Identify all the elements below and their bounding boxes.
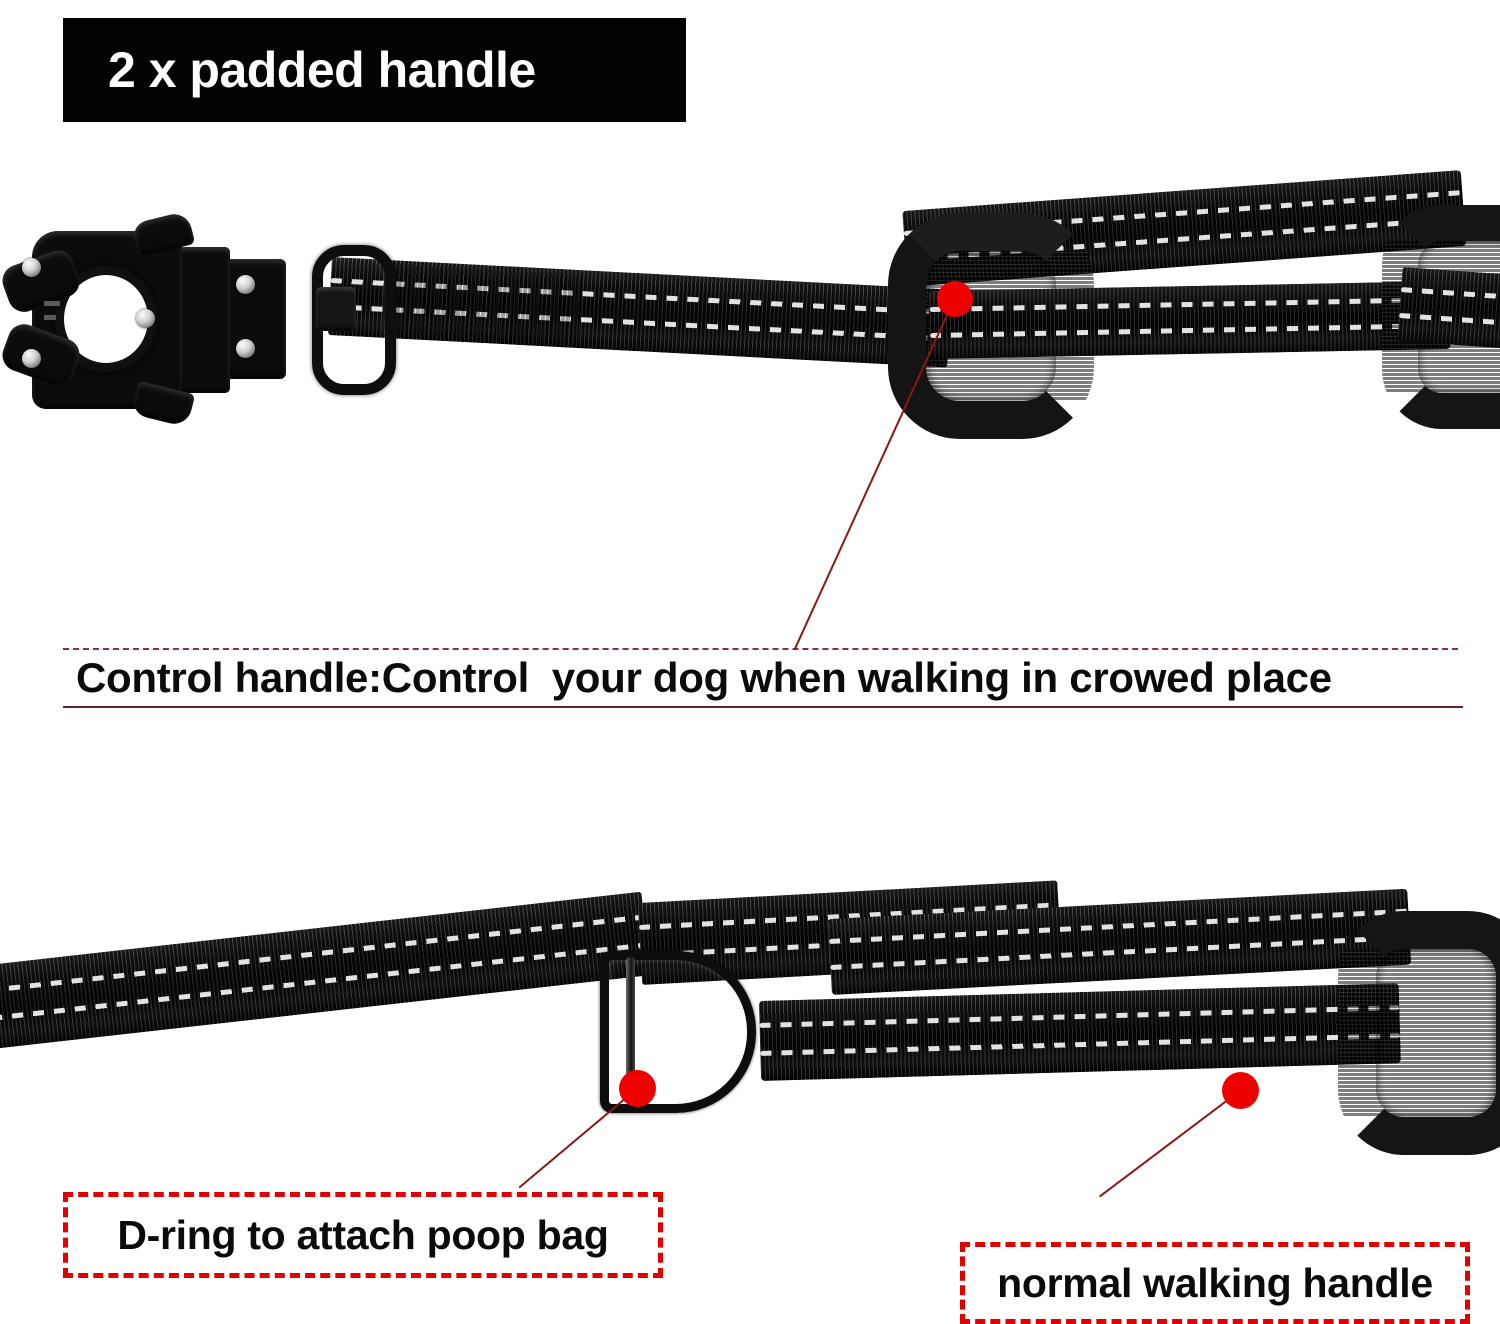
bartack-stitch-patch xyxy=(390,265,583,345)
marker-dot-control-handle xyxy=(937,281,973,317)
marker-dot-walking-handle xyxy=(1222,1072,1259,1109)
title-banner: 2 x padded handle xyxy=(63,18,686,122)
callout-box-d-ring: D-ring to attach poop bag xyxy=(63,1192,663,1278)
clasp-rivet xyxy=(236,275,255,294)
clasp-jaw-rivet xyxy=(22,258,41,277)
metal-clasp xyxy=(8,217,308,422)
upper-leash-assembly xyxy=(0,195,1500,445)
lower-leash-assembly xyxy=(0,905,1500,1135)
caption-control-handle: Control handle:Control your dog when wal… xyxy=(76,652,1476,704)
reflective-stitch-line xyxy=(830,935,1409,970)
reflective-stitch-line xyxy=(1401,287,1500,300)
reflective-stitch-line xyxy=(930,297,1450,312)
marker-dot-d-ring xyxy=(619,1070,656,1107)
infographic-canvas: 2 x padded handle xyxy=(0,0,1500,1308)
caption-top-dashed-rule xyxy=(63,648,1458,650)
d-ring xyxy=(600,951,740,1097)
clasp-rivet xyxy=(236,339,255,358)
banner-title: 2 x padded handle xyxy=(63,45,536,95)
clasp-jaw-rivet xyxy=(22,349,41,368)
callout-label-walking-handle: normal walking handle xyxy=(997,1260,1433,1307)
caption-bottom-rule xyxy=(63,706,1463,708)
walking-handle-inner-band xyxy=(759,983,1401,1081)
clasp-emboss-mark xyxy=(44,315,56,320)
d-ring-straight-bar xyxy=(626,957,635,1089)
walking-handle-right-bend xyxy=(1338,911,1500,1155)
reflective-stitch-line xyxy=(760,1033,1400,1056)
callout-box-walking-handle: normal walking handle xyxy=(960,1242,1470,1324)
reflective-stitch-line xyxy=(930,323,1450,338)
upper-strap-tail xyxy=(1397,267,1500,348)
clasp-pivot-rivet xyxy=(136,309,155,328)
callout-label-d-ring: D-ring to attach poop bag xyxy=(117,1212,608,1259)
reflective-stitch-line xyxy=(1399,313,1500,326)
lower-webbing-strap-left xyxy=(0,892,651,1049)
control-handle-inner-band xyxy=(929,281,1450,359)
reflective-stitch-line xyxy=(759,1005,1399,1028)
swivel-hex-nut xyxy=(316,287,356,331)
clasp-emboss-mark xyxy=(44,301,60,306)
